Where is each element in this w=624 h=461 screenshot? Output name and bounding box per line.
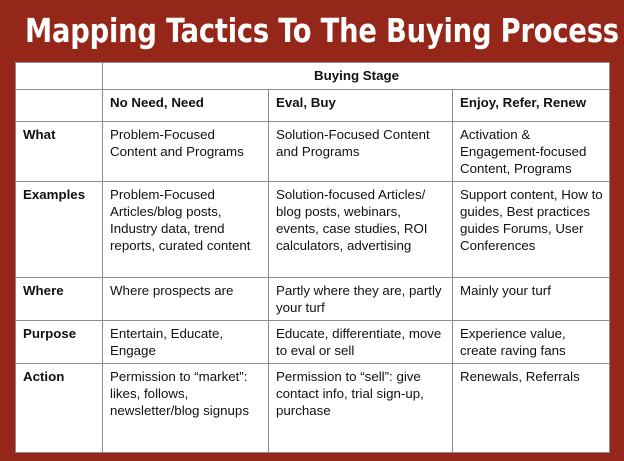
table-row-banner: Buying Stage: [16, 63, 610, 90]
cell-examples-enjoy-refer-renew: Support content, How to guides, Best pra…: [453, 182, 610, 278]
row-label-examples: Examples: [16, 182, 103, 278]
cell-where-eval-buy: Partly where they are, partly your turf: [269, 278, 453, 321]
row-label-action: Action: [16, 364, 103, 453]
cell-purpose-no-need: Entertain, Educate, Engage: [103, 321, 269, 364]
row-label-what: What: [16, 122, 103, 182]
stage-header-enjoy-refer-renew: Enjoy, Refer, Renew: [453, 90, 610, 122]
cell-examples-no-need: Problem-Focused Articles/blog posts, Ind…: [103, 182, 269, 278]
cell-text: Partly where they are, partly your turf: [276, 282, 446, 316]
cell-text: Entertain, Educate, Engage: [110, 325, 262, 359]
table-row: Action Permission to “market”: likes, fo…: [16, 364, 610, 453]
buying-stage-matrix: Buying Stage No Need, Need Eval, Buy Enj…: [15, 62, 609, 444]
stage-header-corner: [16, 90, 103, 122]
cell-text: Solution-Focused Content and Programs: [276, 126, 446, 160]
cell-text: Support content, How to guides, Best pra…: [460, 186, 603, 254]
cell-text: Where prospects are: [110, 282, 262, 299]
stage-header-no-need: No Need, Need: [103, 90, 269, 122]
cell-action-enjoy-refer-renew: Renewals, Referrals: [453, 364, 610, 453]
table-row: What Problem-Focused Content and Program…: [16, 122, 610, 182]
slide-canvas: Mapping Tactics To The Buying Process Bu…: [0, 0, 624, 461]
cell-text: Permission to “market”: likes, follows, …: [110, 368, 262, 419]
cell-text: Solution-focused Articles/ blog posts, w…: [276, 186, 446, 254]
table-row: Purpose Entertain, Educate, Engage Educa…: [16, 321, 610, 364]
cell-where-no-need: Where prospects are: [103, 278, 269, 321]
table-row-stage-headers: No Need, Need Eval, Buy Enjoy, Refer, Re…: [16, 90, 610, 122]
row-label-purpose: Purpose: [16, 321, 103, 364]
page-title: Mapping Tactics To The Buying Process: [25, 8, 599, 56]
row-label-where: Where: [16, 278, 103, 321]
cell-what-no-need: Problem-Focused Content and Programs: [103, 122, 269, 182]
cell-text: Problem-Focused Content and Programs: [110, 126, 262, 160]
cell-purpose-enjoy-refer-renew: Experience value, create raving fans: [453, 321, 610, 364]
corner-cell: [16, 63, 103, 90]
cell-action-no-need: Permission to “market”: likes, follows, …: [103, 364, 269, 453]
table-row: Examples Problem-Focused Articles/blog p…: [16, 182, 610, 278]
cell-text: Mainly your turf: [460, 282, 603, 299]
table-row: Where Where prospects are Partly where t…: [16, 278, 610, 321]
cell-what-eval-buy: Solution-Focused Content and Programs: [269, 122, 453, 182]
cell-action-eval-buy: Permission to “sell”: give contact info,…: [269, 364, 453, 453]
cell-what-enjoy-refer-renew: Activation & Engagement-focused Content,…: [453, 122, 610, 182]
matrix-table: Buying Stage No Need, Need Eval, Buy Enj…: [15, 62, 610, 453]
stage-header-eval-buy: Eval, Buy: [269, 90, 453, 122]
cell-text: Renewals, Referrals: [460, 368, 603, 385]
cell-text: Experience value, create raving fans: [460, 325, 603, 359]
cell-where-enjoy-refer-renew: Mainly your turf: [453, 278, 610, 321]
buying-stage-banner: Buying Stage: [103, 63, 610, 90]
cell-text: Educate, differentiate, move to eval or …: [276, 325, 446, 359]
cell-text: Activation & Engagement-focused Content,…: [460, 126, 603, 177]
cell-text: Permission to “sell”: give contact info,…: [276, 368, 446, 419]
cell-purpose-eval-buy: Educate, differentiate, move to eval or …: [269, 321, 453, 364]
cell-text: Problem-Focused Articles/blog posts, Ind…: [110, 186, 262, 254]
cell-examples-eval-buy: Solution-focused Articles/ blog posts, w…: [269, 182, 453, 278]
